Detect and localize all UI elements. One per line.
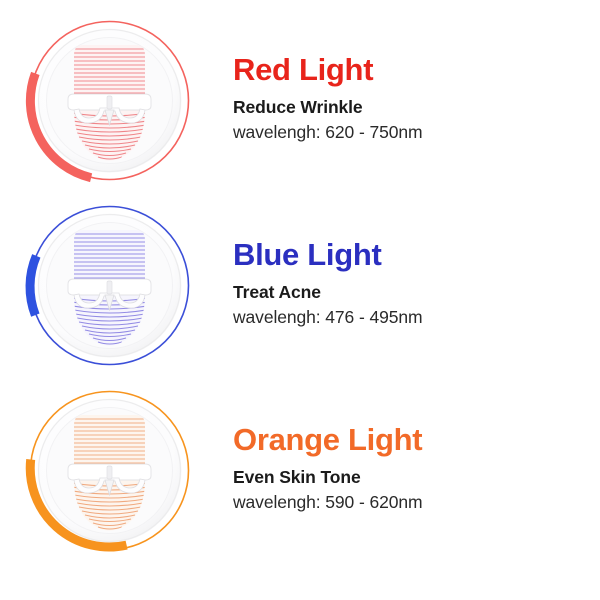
red-light-heading: Red Light (233, 54, 422, 87)
orange-light-badge (22, 383, 197, 558)
orange-light-wavelength: wavelengh: 590 - 620nm (233, 492, 422, 513)
blue-light-heading: Blue Light (233, 239, 422, 272)
orange-light-benefit: Even Skin Tone (233, 467, 422, 488)
red-light-benefit: Reduce Wrinkle (233, 97, 422, 118)
blue-light-wavelength: wavelengh: 476 - 495nm (233, 307, 422, 328)
goggle-bar (68, 464, 151, 495)
blue-light-benefit: Treat Acne (233, 282, 422, 303)
red-light-wavelength: wavelengh: 620 - 750nm (233, 122, 422, 143)
progress-arc-top (30, 256, 36, 315)
red-light-badge (22, 13, 197, 188)
light-therapy-info-panel: Red Light Reduce Wrinkle wavelengh: 620 … (0, 0, 600, 600)
blue-light-info: Blue Light Treat Acne wavelengh: 476 - 4… (233, 239, 422, 333)
light-mode-row-blue: Blue Light Treat Acne wavelengh: 476 - 4… (0, 193, 600, 378)
light-mode-row-orange: Orange Light Even Skin Tone wavelengh: 5… (0, 378, 600, 563)
goggle-bar (68, 279, 151, 310)
blue-light-badge (22, 198, 197, 373)
orange-light-heading: Orange Light (233, 424, 422, 457)
orange-light-info: Orange Light Even Skin Tone wavelengh: 5… (233, 424, 422, 518)
goggle-bar (68, 94, 151, 125)
red-light-info: Red Light Reduce Wrinkle wavelengh: 620 … (233, 54, 422, 148)
led-mask-icon (22, 198, 197, 373)
light-mode-row-red: Red Light Reduce Wrinkle wavelengh: 620 … (0, 0, 600, 193)
led-mask-icon (22, 13, 197, 188)
led-mask-icon (22, 383, 197, 558)
